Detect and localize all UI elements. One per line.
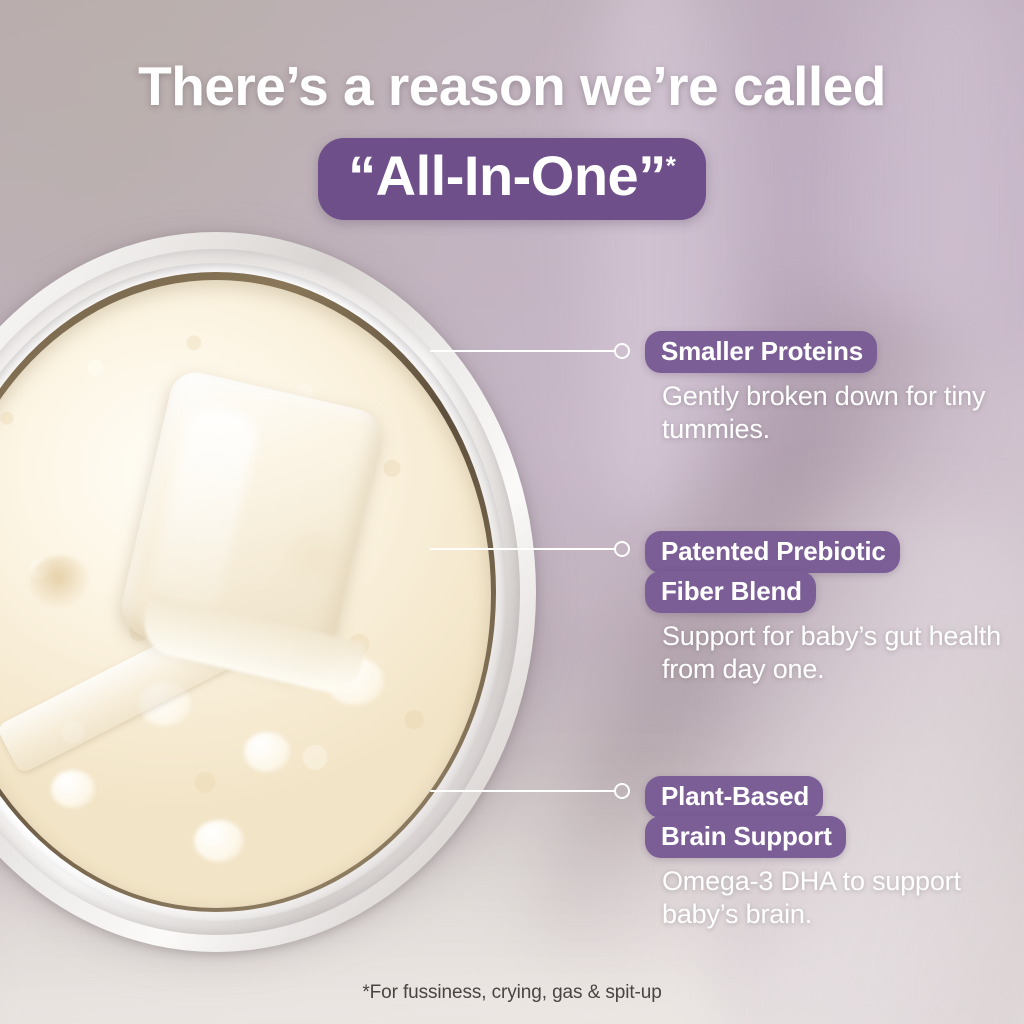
powder-clump (194, 820, 244, 862)
feature-pill-line: Brain Support (645, 816, 846, 858)
leader-dot (614, 783, 630, 799)
feature-description: Support for baby’s gut health from day o… (662, 620, 1015, 686)
feature-description: Omega-3 DHA to support baby’s brain. (662, 865, 1015, 931)
feature-pill-line: Patented Prebiotic (645, 531, 900, 573)
feature-pill-group: Smaller Proteins (645, 331, 1015, 373)
formula-powder (0, 280, 491, 908)
title-pill-asterisk: * (666, 150, 676, 180)
feature-prebiotic-fiber: Patented Prebiotic Fiber Blend Support f… (645, 531, 1015, 686)
headline: There’s a reason we’re called (0, 58, 1024, 115)
feature-pill-group: Patented Prebiotic Fiber Blend (645, 531, 1015, 613)
feature-pill-line: Smaller Proteins (645, 331, 877, 373)
formula-can-photo (0, 232, 536, 952)
feature-smaller-proteins: Smaller Proteins Gently broken down for … (645, 331, 1015, 446)
leader-dot (614, 343, 630, 359)
title-pill: “All-In-One”* (318, 138, 706, 220)
feature-pill-group: Plant-Based Brain Support (645, 776, 1015, 858)
feature-pill-line: Fiber Blend (645, 571, 816, 613)
powder-clump (244, 732, 290, 772)
leader-line-3 (430, 781, 630, 801)
leader-stroke (430, 790, 616, 792)
feature-brain-support: Plant-Based Brain Support Omega-3 DHA to… (645, 776, 1015, 931)
powder-clump (51, 770, 95, 808)
leader-dot (614, 541, 630, 557)
footnote: *For fussiness, crying, gas & spit-up (0, 982, 1024, 1004)
leader-line-2 (430, 539, 630, 559)
title-pill-container: “All-In-One”* (0, 138, 1024, 220)
leader-line-1 (430, 341, 630, 361)
infographic-canvas: There’s a reason we’re called “All-In-On… (0, 0, 1024, 1024)
feature-description: Gently broken down for tiny tummies. (662, 380, 1015, 446)
leader-stroke (430, 350, 616, 352)
feature-pill-line: Plant-Based (645, 776, 823, 818)
powder-clump (29, 556, 93, 608)
leader-stroke (430, 548, 616, 550)
title-pill-text: “All-In-One” (348, 147, 666, 206)
